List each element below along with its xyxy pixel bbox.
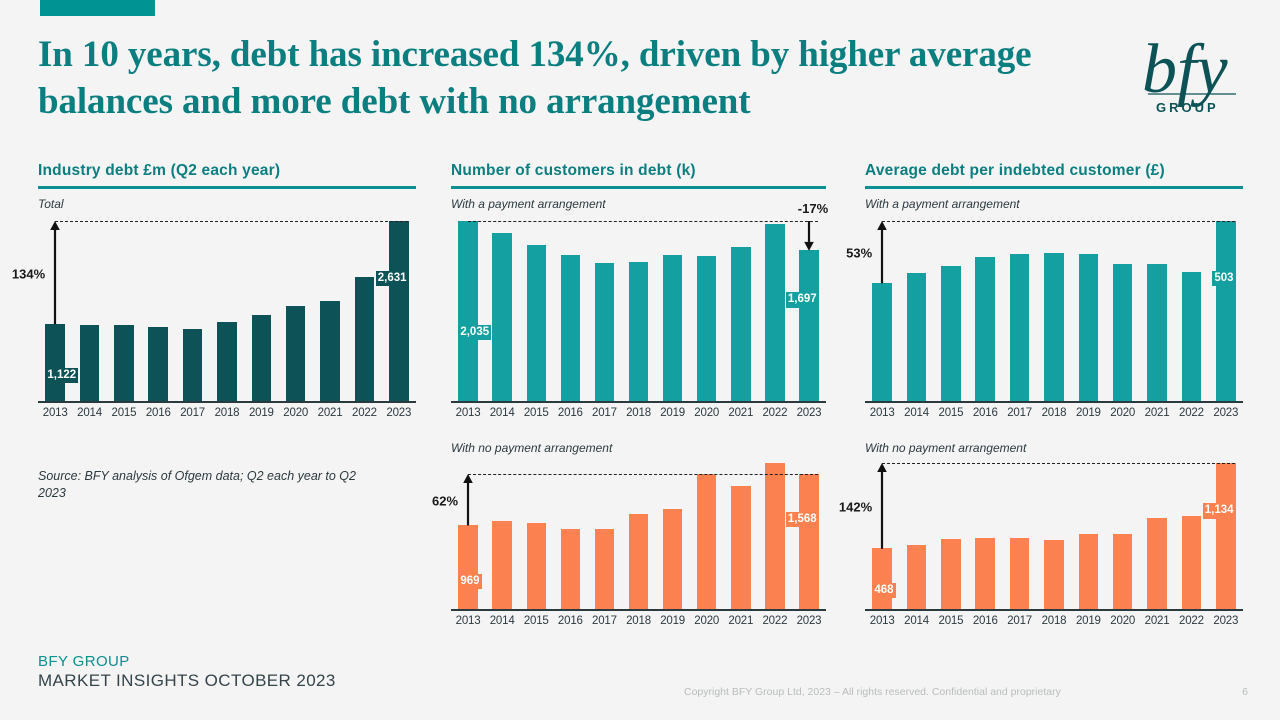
bar-slot bbox=[175, 221, 209, 401]
x-axis-tick: 2013 bbox=[38, 407, 72, 419]
decline-annotation-label: -17% bbox=[798, 201, 828, 216]
bar-slot bbox=[724, 221, 758, 401]
x-axis-tick: 2013 bbox=[865, 407, 899, 419]
x-axis-labels: 2013201420152016201720182019202020212022… bbox=[865, 407, 1243, 419]
x-axis-tick: 2014 bbox=[899, 615, 933, 627]
plot-customers-no-arrangement: 9691,568 62% bbox=[451, 463, 826, 611]
x-axis-tick: 2020 bbox=[690, 407, 724, 419]
x-axis-tick: 2018 bbox=[621, 615, 655, 627]
bar-slot bbox=[1174, 463, 1208, 609]
reference-dashed-line bbox=[468, 221, 818, 222]
bar-slot bbox=[107, 221, 141, 401]
footer-page-number: 6 bbox=[1242, 686, 1248, 698]
reference-dashed-line bbox=[882, 221, 1235, 222]
x-axis-tick: 2017 bbox=[587, 407, 621, 419]
bar: 468 bbox=[872, 548, 892, 608]
bar-slot bbox=[485, 463, 519, 609]
bar: 1,568 bbox=[799, 474, 818, 609]
bar: 2,631 bbox=[389, 221, 409, 401]
x-axis-tick: 2021 bbox=[1140, 407, 1174, 419]
panel-title-customers: Number of customers in debt (k) bbox=[451, 162, 826, 180]
growth-arrow-icon bbox=[45, 221, 65, 326]
x-axis-tick: 2019 bbox=[1071, 407, 1105, 419]
bar-slot bbox=[553, 221, 587, 401]
plot-avg-debt-with-arrangement: 503 53% bbox=[865, 221, 1243, 403]
bar bbox=[492, 233, 511, 400]
bar-slot bbox=[1071, 221, 1105, 401]
x-axis-line bbox=[38, 401, 416, 403]
svg-text:bfy: bfy bbox=[1142, 31, 1228, 108]
x-axis-labels: 2013201420152016201720182019202020212022… bbox=[38, 407, 416, 419]
bar bbox=[183, 329, 203, 401]
bar-slot bbox=[347, 221, 381, 401]
chart-panel-customers-in-debt: Number of customers in debt (k) With a p… bbox=[451, 162, 826, 627]
x-axis-tick: 2021 bbox=[724, 615, 758, 627]
bar bbox=[872, 283, 892, 401]
reference-dashed-line bbox=[882, 463, 1235, 464]
bar-slot: 1,134 bbox=[1209, 463, 1243, 609]
bar bbox=[1044, 253, 1064, 400]
bar bbox=[148, 327, 168, 401]
bar-slot bbox=[1002, 221, 1036, 401]
x-axis-line bbox=[865, 609, 1243, 611]
x-axis-tick: 2020 bbox=[279, 407, 313, 419]
bar-slot bbox=[279, 221, 313, 401]
bfy-group-logo: bfy GROUP bbox=[1140, 26, 1248, 126]
x-axis-tick: 2023 bbox=[792, 407, 826, 419]
bar bbox=[320, 301, 340, 400]
bar-value-label: 969 bbox=[458, 574, 481, 589]
x-axis-tick: 2019 bbox=[656, 407, 690, 419]
bar-slot bbox=[1071, 463, 1105, 609]
bar: 1,697 bbox=[799, 250, 818, 400]
bar-slot bbox=[72, 221, 106, 401]
bar-slot bbox=[210, 221, 244, 401]
bar-slot bbox=[1037, 463, 1071, 609]
x-axis-tick: 2018 bbox=[210, 407, 244, 419]
bar: 1,122 bbox=[45, 324, 65, 401]
panel-subtitle-industry-debt: Total bbox=[38, 197, 416, 211]
bar bbox=[1010, 254, 1030, 401]
bar-value-label: 503 bbox=[1212, 271, 1235, 286]
footer-copyright: Copyright BFY Group Ltd, 2023 – All righ… bbox=[684, 686, 1061, 698]
x-axis-tick: 2023 bbox=[1209, 615, 1243, 627]
x-axis-labels: 2013201420152016201720182019202020212022… bbox=[451, 407, 826, 419]
x-axis-tick: 2018 bbox=[1037, 615, 1071, 627]
x-axis-labels: 2013201420152016201720182019202020212022… bbox=[451, 615, 826, 627]
bar bbox=[1147, 264, 1167, 400]
bar bbox=[1113, 534, 1133, 608]
bar bbox=[765, 463, 784, 609]
svg-text:GROUP: GROUP bbox=[1156, 100, 1219, 115]
growth-arrow-icon bbox=[872, 221, 892, 285]
panel-subtitle-with-arrangement: With a payment arrangement bbox=[865, 197, 1243, 211]
panel-subtitle-no-arrangement: With no payment arrangement bbox=[451, 441, 826, 455]
bar bbox=[80, 325, 100, 401]
bar bbox=[907, 273, 927, 400]
x-axis-line bbox=[451, 401, 826, 403]
x-axis-line bbox=[865, 401, 1243, 403]
bar-slot bbox=[1140, 463, 1174, 609]
bar-slot bbox=[656, 463, 690, 609]
bar: 2,035 bbox=[458, 221, 477, 401]
decline-arrow-icon bbox=[799, 221, 819, 253]
x-axis-tick: 2017 bbox=[587, 615, 621, 627]
x-axis-tick: 2017 bbox=[1002, 407, 1036, 419]
x-axis-tick: 2019 bbox=[244, 407, 278, 419]
x-axis-tick: 2022 bbox=[758, 407, 792, 419]
bar bbox=[492, 521, 511, 609]
footer-brand-line1: BFY GROUP bbox=[38, 653, 336, 671]
bar-slot bbox=[899, 463, 933, 609]
x-axis-tick: 2016 bbox=[968, 407, 1002, 419]
bar-slot bbox=[485, 221, 519, 401]
bar-slot: 2,631 bbox=[382, 221, 416, 401]
panel-subtitle-no-arrangement: With no payment arrangement bbox=[865, 441, 1243, 455]
source-note: Source: BFY analysis of Ofgem data; Q2 e… bbox=[38, 468, 368, 503]
bar-slot: 503 bbox=[1209, 221, 1243, 401]
bar bbox=[595, 529, 614, 608]
x-axis-tick: 2015 bbox=[934, 615, 968, 627]
bar-slot bbox=[934, 463, 968, 609]
bar bbox=[1079, 254, 1099, 401]
panel-title-average-debt: Average debt per indebted customer (£) bbox=[865, 162, 1243, 180]
reference-dashed-line bbox=[468, 474, 818, 475]
bar bbox=[731, 486, 750, 609]
bar bbox=[765, 224, 784, 401]
growth-annotation-label: 142% bbox=[839, 500, 876, 515]
bar bbox=[941, 539, 961, 609]
x-axis-tick: 2018 bbox=[621, 407, 655, 419]
bar bbox=[1182, 272, 1202, 401]
bar: 969 bbox=[458, 525, 477, 608]
bar-slot bbox=[1106, 463, 1140, 609]
x-axis-tick: 2015 bbox=[107, 407, 141, 419]
footer-brand: BFY GROUP MARKET INSIGHTS OCTOBER 2023 bbox=[38, 653, 336, 692]
x-axis-tick: 2020 bbox=[1106, 615, 1140, 627]
plot-customers-with-arrangement: 2,0351,697 -17% bbox=[451, 221, 826, 403]
bar bbox=[975, 538, 995, 609]
bar bbox=[975, 257, 995, 400]
chart-panel-industry-debt: Industry debt £m (Q2 each year) Total 1,… bbox=[38, 162, 416, 419]
accent-bar bbox=[40, 0, 155, 16]
x-axis-tick: 2014 bbox=[485, 615, 519, 627]
x-axis-tick: 2021 bbox=[1140, 615, 1174, 627]
plot-avg-debt-no-arrangement: 4681,134 142% bbox=[865, 463, 1243, 611]
bar bbox=[1044, 540, 1064, 608]
growth-arrow-icon bbox=[872, 463, 892, 551]
bar-group: 1,1222,631 bbox=[38, 221, 416, 401]
bar-slot bbox=[934, 221, 968, 401]
x-axis-labels: 2013201420152016201720182019202020212022… bbox=[865, 615, 1243, 627]
bar-group: 503 bbox=[865, 221, 1243, 401]
panel-subtitle-with-arrangement: With a payment arrangement bbox=[451, 197, 826, 211]
bar bbox=[1182, 516, 1202, 609]
bar-slot bbox=[519, 221, 553, 401]
x-axis-tick: 2020 bbox=[1106, 407, 1140, 419]
bar-slot bbox=[1037, 221, 1071, 401]
bar bbox=[629, 262, 648, 401]
bar bbox=[1147, 518, 1167, 608]
bar-value-label: 1,568 bbox=[786, 512, 819, 527]
bar-slot bbox=[1106, 221, 1140, 401]
footer-brand-line2: MARKET INSIGHTS OCTOBER 2023 bbox=[38, 671, 336, 692]
x-axis-tick: 2016 bbox=[968, 615, 1002, 627]
bar-slot bbox=[690, 463, 724, 609]
bar-slot bbox=[899, 221, 933, 401]
x-axis-tick: 2018 bbox=[1037, 407, 1071, 419]
bar-slot bbox=[621, 463, 655, 609]
bar bbox=[527, 245, 546, 401]
bar-slot bbox=[587, 221, 621, 401]
bar bbox=[1010, 538, 1030, 609]
bar-slot bbox=[553, 463, 587, 609]
bar-value-label: 2,631 bbox=[376, 271, 409, 286]
bar-slot bbox=[690, 221, 724, 401]
bar-slot bbox=[141, 221, 175, 401]
reference-dashed-line bbox=[55, 221, 408, 222]
bar-group: 9691,568 bbox=[451, 463, 826, 609]
bar: 503 bbox=[1216, 221, 1236, 401]
bar-slot bbox=[968, 221, 1002, 401]
x-axis-tick: 2014 bbox=[899, 407, 933, 419]
bar bbox=[217, 322, 237, 400]
bar: 1,134 bbox=[1216, 463, 1236, 609]
bar-value-label: 468 bbox=[872, 583, 895, 598]
x-axis-tick: 2020 bbox=[690, 615, 724, 627]
x-axis-tick: 2021 bbox=[313, 407, 347, 419]
bar bbox=[355, 277, 375, 400]
bar bbox=[663, 509, 682, 609]
x-axis-tick: 2013 bbox=[865, 615, 899, 627]
x-axis-tick: 2013 bbox=[451, 407, 485, 419]
x-axis-tick: 2022 bbox=[758, 615, 792, 627]
bar-slot bbox=[244, 221, 278, 401]
panel-rule bbox=[451, 186, 826, 189]
x-axis-tick: 2022 bbox=[1174, 615, 1208, 627]
bar bbox=[731, 247, 750, 401]
bar bbox=[629, 514, 648, 608]
panel-rule bbox=[865, 186, 1243, 189]
x-axis-tick: 2023 bbox=[1209, 407, 1243, 419]
x-axis-tick: 2016 bbox=[553, 615, 587, 627]
x-axis-tick: 2019 bbox=[656, 615, 690, 627]
panel-title-industry-debt: Industry debt £m (Q2 each year) bbox=[38, 162, 416, 180]
bar-slot bbox=[724, 463, 758, 609]
bar bbox=[697, 474, 716, 609]
bar-slot bbox=[758, 463, 792, 609]
bar-slot bbox=[587, 463, 621, 609]
bar-slot bbox=[1002, 463, 1036, 609]
bar-value-label: 1,697 bbox=[786, 292, 819, 307]
x-axis-tick: 2016 bbox=[553, 407, 587, 419]
bar-group: 4681,134 bbox=[865, 463, 1243, 609]
bar-slot bbox=[1140, 221, 1174, 401]
x-axis-line bbox=[451, 609, 826, 611]
bar-slot bbox=[621, 221, 655, 401]
bar-slot bbox=[968, 463, 1002, 609]
bar bbox=[286, 306, 306, 400]
bar-slot bbox=[519, 463, 553, 609]
bar-slot: 2,035 bbox=[451, 221, 485, 401]
x-axis-tick: 2015 bbox=[934, 407, 968, 419]
bar-value-label: 1,134 bbox=[1203, 503, 1236, 518]
bar-slot bbox=[758, 221, 792, 401]
x-axis-tick: 2022 bbox=[1174, 407, 1208, 419]
x-axis-tick: 2021 bbox=[724, 407, 758, 419]
bar bbox=[941, 266, 961, 400]
chart-panel-average-debt: Average debt per indebted customer (£) W… bbox=[865, 162, 1243, 627]
x-axis-tick: 2013 bbox=[451, 615, 485, 627]
x-axis-tick: 2014 bbox=[72, 407, 106, 419]
bar-slot bbox=[1174, 221, 1208, 401]
bar bbox=[1113, 264, 1133, 401]
bar bbox=[114, 325, 134, 401]
x-axis-tick: 2017 bbox=[1002, 615, 1036, 627]
x-axis-tick: 2014 bbox=[485, 407, 519, 419]
page-title: In 10 years, debt has increased 134%, dr… bbox=[38, 32, 1128, 126]
x-axis-tick: 2019 bbox=[1071, 615, 1105, 627]
bar bbox=[1079, 534, 1099, 609]
panel-rule bbox=[38, 186, 416, 189]
bar bbox=[561, 529, 580, 609]
bar bbox=[527, 523, 546, 608]
growth-annotation-label: 134% bbox=[12, 267, 49, 282]
x-axis-tick: 2016 bbox=[141, 407, 175, 419]
bar bbox=[697, 256, 716, 400]
x-axis-tick: 2015 bbox=[519, 615, 553, 627]
bar bbox=[595, 263, 614, 401]
plot-industry-debt: 1,1222,631 134% bbox=[38, 221, 416, 403]
bar bbox=[561, 255, 580, 400]
bar bbox=[252, 315, 272, 401]
x-axis-tick: 2023 bbox=[792, 615, 826, 627]
bar-slot bbox=[656, 221, 690, 401]
bar-slot bbox=[313, 221, 347, 401]
bar-group: 2,0351,697 bbox=[451, 221, 826, 401]
bar bbox=[663, 255, 682, 401]
x-axis-tick: 2015 bbox=[519, 407, 553, 419]
x-axis-tick: 2022 bbox=[347, 407, 381, 419]
x-axis-tick: 2023 bbox=[382, 407, 416, 419]
growth-arrow-icon bbox=[458, 474, 478, 527]
bar-slot: 1,568 bbox=[792, 463, 826, 609]
x-axis-tick: 2017 bbox=[175, 407, 209, 419]
bar bbox=[907, 545, 927, 608]
